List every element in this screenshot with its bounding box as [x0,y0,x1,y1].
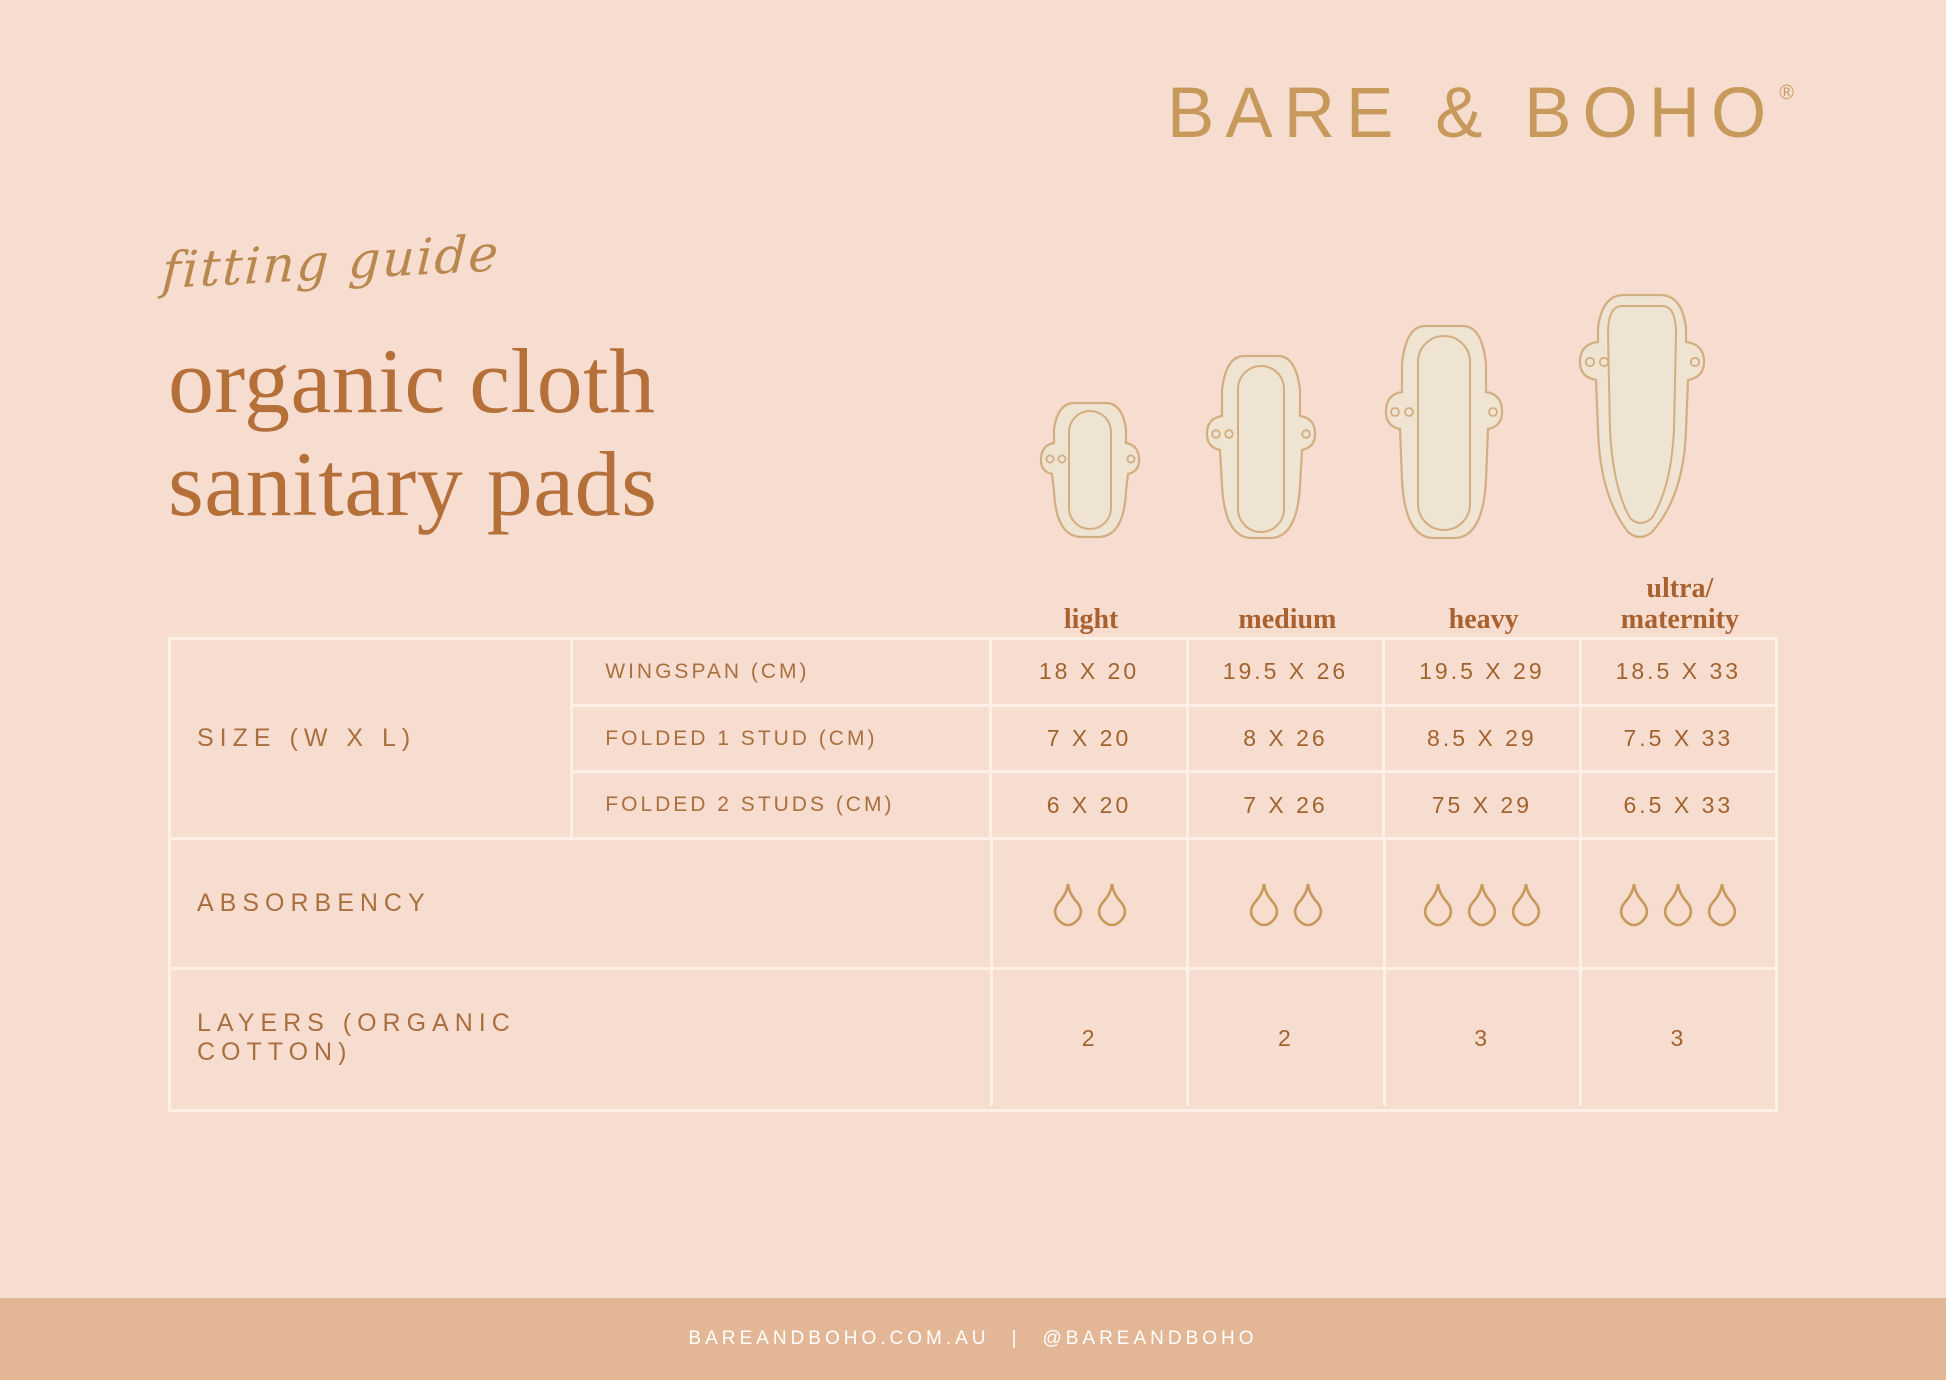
table-row: WINGSPAN (CM) 18 X 20 19.5 X 26 19.5 X 2… [573,640,1775,707]
cell-absorbency-ultra [1582,840,1775,967]
water-drop-icon [1464,881,1500,927]
row-label-layers: LAYERS (ORGANIC COTTON) [171,970,993,1106]
water-drop-icon [1420,881,1456,927]
footer-bar: BAREANDBOHO.COM.AU | @BAREANDBOHO [0,1298,1946,1380]
footer-website[interactable]: BAREANDBOHO.COM.AU [688,1328,989,1350]
table-row: FOLDED 2 STUDS (CM) 6 X 20 7 X 26 75 X 2… [573,773,1775,837]
cell-layers-heavy: 3 [1386,970,1582,1106]
column-header-ultra-line-1: ultra/ [1646,573,1713,604]
cell-layers-medium: 2 [1189,970,1385,1106]
cell-folded1-ultra: 7.5 X 33 [1582,707,1775,771]
water-drop-icon [1660,881,1696,927]
pad-light-icon [1036,395,1166,545]
row-label-layers-line-1: LAYERS (ORGANIC [197,1009,516,1038]
table-section-size: SIZE (W X L) WINGSPAN (CM) 18 X 20 19.5 … [171,640,1775,840]
row-label-absorbency: ABSORBENCY [171,840,993,967]
cell-layers-light: 2 [993,970,1189,1106]
cell-folded2-ultra: 6.5 X 33 [1582,773,1775,837]
water-drop-icon [1094,881,1130,927]
row-label-layers-line-2: COTTON) [197,1038,352,1067]
water-drop-icon [1290,881,1326,927]
column-header-heavy: heavy [1386,550,1582,640]
cell-wingspan-light: 18 X 20 [992,640,1188,704]
cell-folded1-medium: 8 X 26 [1189,707,1385,771]
drop-group-light [1050,881,1130,927]
water-drop-icon [1508,881,1544,927]
cell-wingspan-heavy: 19.5 X 29 [1385,640,1581,704]
table-section-absorbency: ABSORBENCY [171,840,1775,970]
water-drop-icon [1246,881,1282,927]
pad-light [1036,395,1166,550]
column-header-ultra-line-2: maternity [1621,604,1739,635]
brand-logo: BARE & BOHO ® [1167,78,1794,149]
pad-medium-icon [1200,350,1340,545]
drop-group-ultra [1616,881,1740,927]
pad-illustrations [1020,300,1800,550]
table-section-layers: LAYERS (ORGANIC COTTON) 2 2 3 3 [171,970,1775,1106]
column-header-medium: medium [1189,550,1385,640]
column-header-ultra-maternity: ultra/ maternity [1582,550,1778,640]
table-row: FOLDED 1 STUD (CM) 7 X 20 8 X 26 8.5 X 2… [573,707,1775,774]
column-header-light: light [993,550,1189,640]
sub-row-label-wingspan: WINGSPAN (CM) [573,640,992,704]
pad-heavy [1378,320,1528,550]
cell-folded2-medium: 7 X 26 [1189,773,1385,837]
pad-heavy-icon [1378,320,1528,545]
specs-table: SIZE (W X L) WINGSPAN (CM) 18 X 20 19.5 … [168,637,1778,1112]
cell-wingspan-ultra: 18.5 X 33 [1582,640,1775,704]
sub-row-label-folded-1-stud: FOLDED 1 STUD (CM) [573,707,992,771]
cell-folded1-light: 7 X 20 [992,707,1188,771]
registered-trademark-icon: ® [1779,82,1794,105]
water-drop-icon [1704,881,1740,927]
cell-layers-ultra: 3 [1582,970,1775,1106]
pad-ultra-maternity-icon [1568,290,1733,545]
water-drop-icon [1616,881,1652,927]
row-label-size: SIZE (W X L) [171,640,573,837]
page-title: organic cloth sanitary pads [168,330,657,536]
footer-social-handle[interactable]: @BAREANDBOHO [1042,1328,1257,1350]
water-drop-icon [1050,881,1086,927]
sub-row-label-folded-2-studs: FOLDED 2 STUDS (CM) [573,773,992,837]
page-title-line-2: sanitary pads [168,433,657,536]
cell-wingspan-medium: 19.5 X 26 [1189,640,1385,704]
cell-absorbency-light [993,840,1189,967]
drop-group-medium [1246,881,1326,927]
footer-separator: | [1012,1328,1021,1350]
script-subtitle: fitting guide [160,224,501,300]
column-headers: light medium heavy ultra/ maternity [993,550,1778,640]
drop-group-heavy [1420,881,1544,927]
page-title-line-1: organic cloth [168,330,657,433]
cell-absorbency-medium [1189,840,1385,967]
cell-absorbency-heavy [1386,840,1582,967]
logo-text: BARE & BOHO [1167,78,1777,149]
cell-folded1-heavy: 8.5 X 29 [1385,707,1581,771]
cell-folded2-heavy: 75 X 29 [1385,773,1581,837]
cell-folded2-light: 6 X 20 [992,773,1188,837]
pad-ultra-maternity [1568,290,1733,550]
pad-medium [1200,350,1340,550]
